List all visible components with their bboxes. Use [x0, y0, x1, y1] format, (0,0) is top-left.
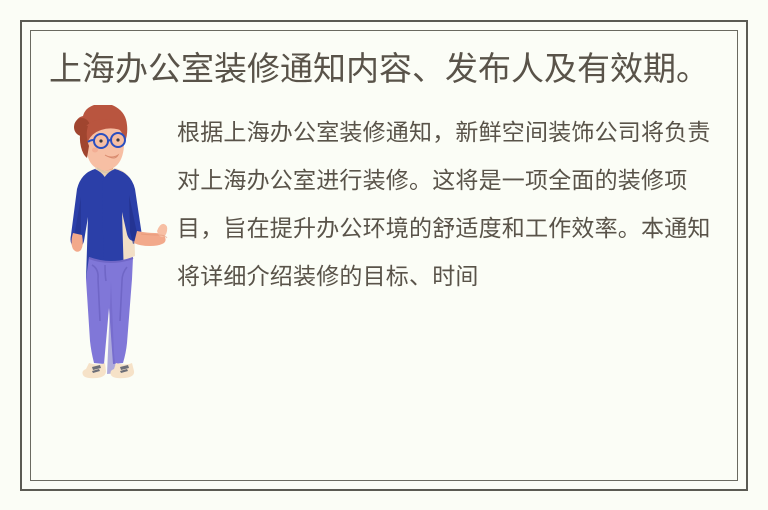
article-body-text: 根据上海办公室装修通知，新鲜空间装饰公司将负责对上海办公室进行装修。这将是一项全…	[177, 105, 723, 301]
article-card-inner-border: 上海办公室装修通知内容、发布人及有效期。	[30, 30, 738, 481]
article-card: 上海办公室装修通知内容、发布人及有效期。	[20, 20, 748, 491]
article-body-row: 根据上海办公室装修通知，新鲜空间装饰公司将负责对上海办公室进行装修。这将是一项全…	[45, 105, 723, 405]
article-content: 上海办公室装修通知内容、发布人及有效期。	[31, 31, 737, 480]
page-title: 上海办公室装修通知内容、发布人及有效期。	[45, 45, 723, 93]
standing-person-thumbs-up-illustration	[45, 105, 177, 405]
